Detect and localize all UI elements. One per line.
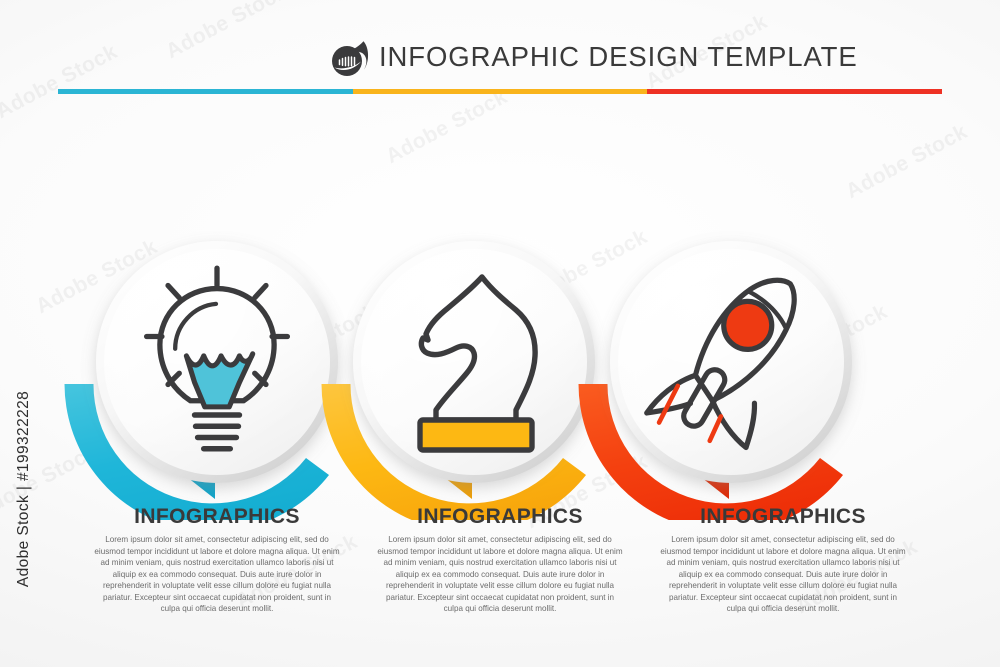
step-2-title: INFOGRAPHICS [355, 505, 645, 528]
rule-segment-teal [58, 89, 353, 94]
header-rule [58, 89, 942, 94]
step-1[interactable] [65, 241, 339, 520]
steps-diagram-svg [0, 100, 1000, 520]
step-2-body: Lorem ipsum dolor sit amet, consectetur … [355, 534, 645, 614]
step-2-text-block: INFOGRAPHICS Lorem ipsum dolor sit amet,… [355, 505, 645, 614]
brand-logo [328, 38, 370, 80]
header: INFOGRAPHIC DESIGN TEMPLATE [0, 0, 1000, 100]
step-2[interactable] [322, 241, 596, 520]
rule-segment-amber [353, 89, 648, 94]
step-3-body: Lorem ipsum dolor sit amet, consectetur … [638, 534, 928, 614]
infographic-canvas: Adobe Stock Adobe Stock Adobe Stock Adob… [0, 0, 1000, 667]
step-1-title: INFOGRAPHICS [72, 505, 362, 528]
rule-segment-red [647, 89, 942, 94]
step-3-disc [610, 241, 852, 483]
step-3-title: INFOGRAPHICS [638, 505, 928, 528]
step-3-text-block: INFOGRAPHICS Lorem ipsum dolor sit amet,… [638, 505, 928, 614]
step-1-text-block: INFOGRAPHICS Lorem ipsum dolor sit amet,… [72, 505, 362, 614]
page-title: INFOGRAPHIC DESIGN TEMPLATE [379, 41, 858, 73]
step-3[interactable] [579, 241, 853, 520]
step-1-body: Lorem ipsum dolor sit amet, consectetur … [72, 534, 362, 614]
steps-diagram [0, 100, 1000, 520]
swoosh-circle-logo-icon [328, 38, 370, 80]
